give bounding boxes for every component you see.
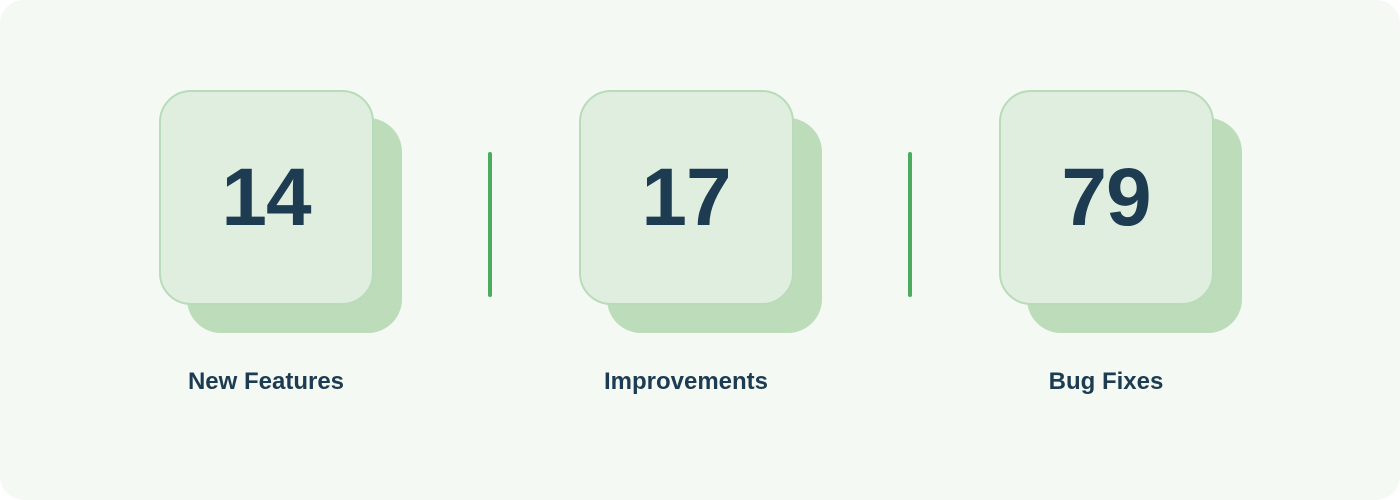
stats-panel: 14 New Features 17 Improvements bbox=[0, 0, 1400, 500]
stat-card-stack: 17 bbox=[579, 90, 822, 340]
vertical-divider-icon bbox=[488, 152, 492, 297]
stat-label: Bug Fixes bbox=[999, 368, 1214, 397]
stat-card-stack: 14 bbox=[159, 90, 402, 340]
stat-card-front[interactable]: 79 bbox=[999, 90, 1214, 305]
stat-item-bug-fixes[interactable]: 79 Bug Fixes bbox=[999, 0, 1242, 500]
stats-row: 14 New Features 17 Improvements bbox=[0, 0, 1400, 500]
divider-cell-1 bbox=[402, 0, 579, 500]
divider-cell-2 bbox=[822, 0, 999, 500]
stat-item-improvements[interactable]: 17 Improvements bbox=[579, 0, 822, 500]
stat-card-stack: 79 bbox=[999, 90, 1242, 340]
stat-label: New Features bbox=[159, 368, 374, 397]
stat-item-new-features[interactable]: 14 New Features bbox=[159, 0, 402, 500]
stat-number: 17 bbox=[641, 157, 730, 239]
stat-number: 14 bbox=[221, 157, 310, 239]
stat-label: Improvements bbox=[579, 368, 794, 397]
stat-card-front[interactable]: 17 bbox=[579, 90, 794, 305]
stat-card-front[interactable]: 14 bbox=[159, 90, 374, 305]
stat-number: 79 bbox=[1061, 157, 1150, 239]
vertical-divider-icon bbox=[908, 152, 912, 297]
